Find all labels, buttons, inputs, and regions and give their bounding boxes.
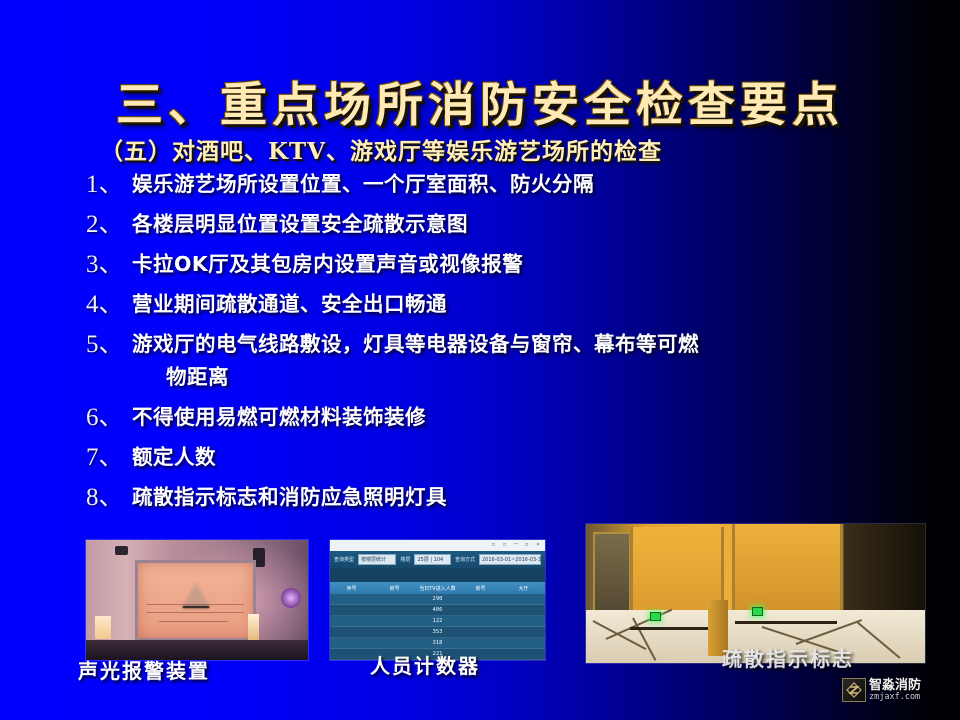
checkpoint-list: 1、 娱乐游艺场所设置位置、一个厅室面积、防火分隔 2、 各楼层明显位置设置安全… — [86, 168, 886, 521]
list-item: 4、 营业期间疏散通道、安全出口畅通 — [86, 288, 886, 321]
wall-lamp — [248, 614, 259, 640]
photo-caption-counter: 人员计数器 — [370, 650, 480, 679]
list-item-text: 游戏厅的电气线路敷设，灯具等电器设备与窗帘、幕布等可燃 — [132, 328, 886, 361]
gold-wall-panel — [732, 524, 843, 621]
list-item-number: 2、 — [86, 208, 132, 241]
query-type-select[interactable]: 按楼层统计 — [358, 554, 396, 565]
list-item-text: 不得使用易燃可燃材料装饰装修 — [132, 401, 886, 434]
list-item-text: 营业期间疏散通道、安全出口畅通 — [132, 288, 886, 321]
count-value: 318 — [414, 640, 460, 646]
exit-sign-icon — [650, 612, 661, 621]
count-value: 290 — [414, 596, 460, 602]
query-toolbar: 查询类型 按楼层统计 楼层 25层 | 104 查询方式 2016-03-01~… — [330, 551, 545, 568]
column-header: 房号 — [459, 585, 502, 592]
window-buttons[interactable]: ▫ ▫ ─ ▫ × — [491, 541, 542, 548]
page-title: 三、重点场所消防安全检查要点 — [0, 66, 960, 135]
table-header: 序号 房号 当日TV进入人数 房号 大厅 — [330, 582, 545, 594]
list-item-number: 7、 — [86, 441, 132, 474]
photo-alarm-device — [86, 540, 308, 660]
exit-sign-icon — [752, 607, 763, 616]
photo-caption-exit-sign: 疏散指示标志 — [722, 643, 854, 672]
list-item-text: 疏散指示标志和消防应急照明灯具 — [132, 481, 886, 514]
list-item-number: 3、 — [86, 248, 132, 281]
presentation-slide: 三、重点场所消防安全检查要点 （五）对酒吧、KTV、游戏厅等娱乐游艺场所的检查 … — [0, 0, 960, 720]
wall-lamp — [95, 616, 111, 639]
date-range-input[interactable]: 2016-03-01~2016-03-31 — [479, 554, 541, 565]
list-item: 1、 娱乐游艺场所设置位置、一个厅室面积、防火分隔 — [86, 168, 886, 201]
list-item-number: 5、 — [86, 328, 132, 361]
photo-people-counter: ▫ ▫ ─ ▫ × 查询类型 按楼层统计 楼层 25层 | 104 查询方式 2… — [330, 540, 545, 660]
list-item-text: 卡拉OK厅及其包房内设置声音或视像报警 — [132, 248, 886, 281]
counter-app-window: ▫ ▫ ─ ▫ × 查询类型 按楼层统计 楼层 25层 | 104 查询方式 2… — [330, 540, 545, 660]
table-row[interactable]: 406 — [330, 605, 545, 616]
list-item: 7、 额定人数 — [86, 441, 886, 474]
warning-screen — [135, 560, 256, 640]
list-item: 8、 疏散指示标志和消防应急照明灯具 — [86, 481, 886, 514]
list-item-text: 额定人数 — [132, 441, 886, 474]
table-row[interactable]: 122 — [330, 616, 545, 627]
list-item: 5、 游戏厅的电气线路敷设，灯具等电器设备与窗帘、幕布等可燃 物距离 — [86, 328, 886, 394]
column-header: 房号 — [373, 585, 416, 592]
list-item-number: 6、 — [86, 401, 132, 434]
count-value: 353 — [414, 629, 460, 635]
column-header: 大厅 — [502, 585, 545, 592]
photo-caption-alarm: 声光报警装置 — [78, 655, 210, 684]
floor-input[interactable]: 25层 | 104 — [414, 554, 451, 565]
watermark-name: 智淼消防 — [869, 679, 921, 692]
list-item-number: 1、 — [86, 168, 132, 201]
list-item-text-continued: 物距离 — [166, 361, 886, 394]
diamond-z-logo-icon — [842, 678, 866, 702]
watermark: 智淼消防 zmjaxf.com — [842, 678, 921, 702]
column-header: 当日TV进入人数 — [416, 585, 459, 592]
mirror-panel — [593, 532, 631, 622]
speaker-icon — [115, 546, 128, 555]
section-subtitle: （五）对酒吧、KTV、游戏厅等娱乐游艺场所的检查 — [100, 132, 662, 166]
table-row[interactable]: 290 — [330, 594, 545, 605]
list-item-text: 各楼层明显位置设置安全疏散示意图 — [132, 208, 886, 241]
floor-label: 楼层 — [400, 556, 410, 563]
query-type-label: 查询类型 — [334, 556, 354, 563]
count-value: 406 — [414, 607, 460, 613]
table-row[interactable]: 353 — [330, 627, 545, 638]
list-item-text: 娱乐游艺场所设置位置、一个厅室面积、防火分隔 — [132, 168, 886, 201]
table-row[interactable]: 318 — [330, 638, 545, 649]
list-item: 3、 卡拉OK厅及其包房内设置声音或视像报警 — [86, 248, 886, 281]
list-item-number: 8、 — [86, 481, 132, 514]
mode-label: 查询方式 — [455, 556, 475, 563]
corridor-far-end — [844, 524, 925, 610]
list-item: 6、 不得使用易燃可燃材料装饰装修 — [86, 401, 886, 434]
watermark-url: zmjaxf.com — [869, 693, 921, 702]
warning-triangle-icon — [183, 583, 209, 606]
count-value: 122 — [414, 618, 460, 624]
column-header: 序号 — [330, 585, 373, 592]
list-item-number: 4、 — [86, 288, 132, 321]
list-item: 2、 各楼层明显位置设置安全疏散示意图 — [86, 208, 886, 241]
